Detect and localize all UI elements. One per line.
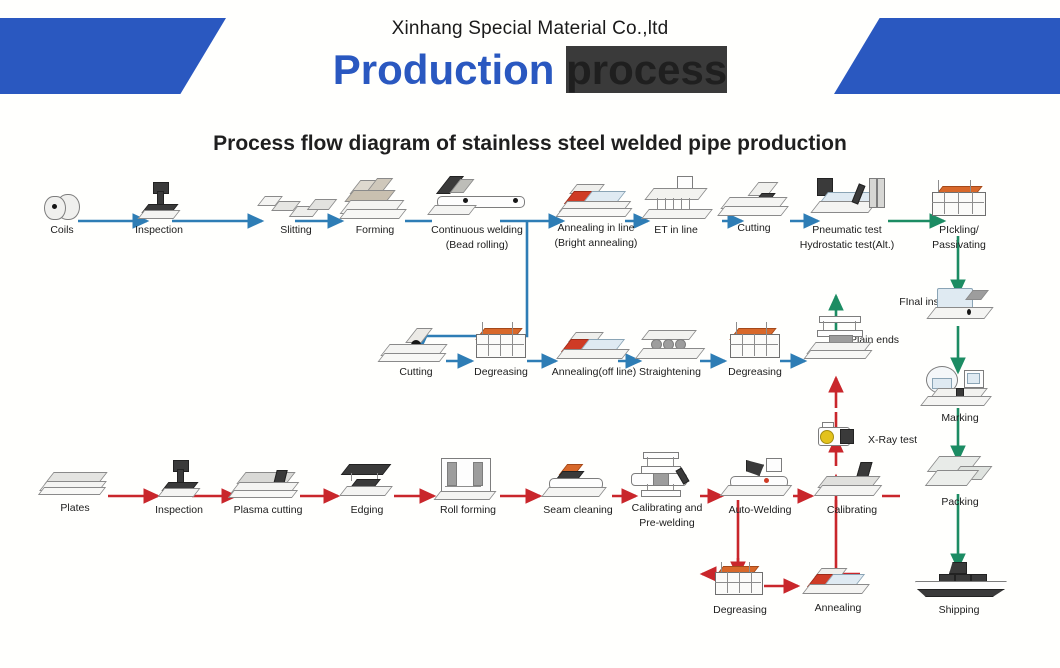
node-label: ET in line bbox=[638, 224, 714, 237]
node-label: Marking bbox=[918, 412, 1002, 425]
annealing-offline-icon bbox=[554, 330, 634, 364]
page-header: Xinhang Special Material Co.,ltd Product… bbox=[0, 0, 1060, 112]
pneumatic-test-icon bbox=[801, 176, 893, 222]
node-forming[interactable]: Forming bbox=[340, 176, 410, 237]
node-shipping[interactable]: Shipping bbox=[900, 562, 1018, 617]
node-annealing-in-line[interactable]: Annealing in line (Bright annealing) bbox=[548, 182, 644, 249]
node-label: Slitting bbox=[258, 224, 334, 237]
auto-welding-icon bbox=[720, 458, 800, 502]
node-label: Annealing in line bbox=[548, 222, 644, 235]
node-inspection[interactable]: Inspection bbox=[122, 182, 196, 237]
marking-machine-icon bbox=[920, 366, 1000, 410]
packing-bundle-icon bbox=[925, 454, 995, 494]
page-title: Production process bbox=[0, 46, 1060, 94]
page-title-accent: Production bbox=[333, 46, 555, 93]
node-label: Degreasing bbox=[706, 604, 774, 617]
node-plain-ends[interactable]: Plain ends bbox=[804, 316, 876, 347]
roll-forming-icon bbox=[433, 458, 503, 502]
node-label: Calibrating bbox=[812, 504, 892, 517]
node-label: Edging bbox=[334, 504, 400, 517]
degreasing-basket-icon bbox=[709, 562, 771, 602]
node-label: Annealing bbox=[800, 602, 876, 615]
node-label-2: Hydrostatic test(Alt.) bbox=[798, 239, 896, 252]
node-packing[interactable]: Packing bbox=[922, 454, 998, 509]
ship-icon bbox=[909, 562, 1009, 602]
node-final-inspection[interactable]: FInal inspection bbox=[920, 288, 1000, 309]
node-label: Plates bbox=[36, 502, 114, 515]
node-pneumatic-test[interactable]: Pneumatic test Hydrostatic test(Alt.) bbox=[798, 176, 896, 251]
node-label-2: Pre-welding bbox=[620, 517, 714, 530]
company-name: Xinhang Special Material Co.,ltd bbox=[0, 18, 1060, 40]
node-label: Degreasing bbox=[464, 366, 538, 379]
node-coils[interactable]: Coils bbox=[30, 190, 94, 237]
page-title-rest: process bbox=[566, 46, 727, 93]
node-et-in-line[interactable]: ET in line bbox=[638, 176, 714, 237]
inspection-microscope-icon bbox=[137, 182, 181, 222]
straightening-rolls-icon bbox=[633, 328, 707, 364]
node-degreasing-3[interactable]: Degreasing bbox=[706, 562, 774, 617]
plates-icon bbox=[39, 470, 111, 500]
plasma-cutting-icon bbox=[231, 470, 305, 502]
degreasing-basket-icon bbox=[468, 322, 534, 364]
node-seam-cleaning[interactable]: Seam cleaning bbox=[538, 464, 618, 517]
node-annealing-off-line[interactable]: Annealing(off line) bbox=[546, 330, 642, 379]
node-cutting-inline[interactable]: Cutting bbox=[718, 182, 790, 235]
x-ray-camera-icon bbox=[816, 422, 856, 448]
node-label: Auto-Welding bbox=[718, 504, 802, 517]
final-inspection-icon bbox=[925, 288, 995, 324]
node-label: Packing bbox=[922, 496, 998, 509]
node-label: Seam cleaning bbox=[538, 504, 618, 517]
node-plates[interactable]: Plates bbox=[36, 470, 114, 515]
process-flow-diagram: Coils Inspection Slitting Forming Contin… bbox=[0, 176, 1060, 668]
node-x-ray-test[interactable]: X-Ray test bbox=[806, 422, 866, 447]
calibrating-pre-welding-icon bbox=[625, 452, 709, 500]
node-label: Calibrating and bbox=[620, 502, 714, 515]
diagram-subtitle: Process flow diagram of stainless steel … bbox=[0, 132, 1060, 156]
calibrating-icon bbox=[814, 462, 890, 502]
node-label: Annealing(off line) bbox=[546, 366, 642, 379]
node-label: Plasma cutting bbox=[228, 504, 308, 517]
annealing-furnace-icon bbox=[557, 182, 635, 220]
node-marking[interactable]: Marking bbox=[918, 366, 1002, 425]
node-calibrating[interactable]: Calibrating bbox=[812, 462, 892, 517]
node-cutting-offline[interactable]: Cutting bbox=[380, 328, 452, 379]
inspection-microscope-icon bbox=[157, 460, 201, 502]
node-label: Continuous welding bbox=[418, 224, 536, 237]
node-slitting[interactable]: Slitting bbox=[258, 188, 334, 237]
node-degreasing-1[interactable]: Degreasing bbox=[464, 322, 538, 379]
et-tester-icon bbox=[639, 176, 713, 222]
plain-ends-machine-icon bbox=[805, 316, 875, 362]
node-label: Shipping bbox=[900, 604, 1018, 617]
node-label: Pneumatic test bbox=[798, 224, 896, 237]
annealing-furnace-icon bbox=[802, 568, 874, 600]
cutting-saw-icon bbox=[381, 328, 451, 364]
node-continuous-welding[interactable]: Continuous welding (Bead rolling) bbox=[418, 176, 536, 251]
edging-press-icon bbox=[337, 464, 397, 502]
node-label: Roll forming bbox=[430, 504, 506, 517]
cutting-machine-icon bbox=[719, 182, 789, 220]
node-label-2: Passivating bbox=[920, 239, 998, 252]
node-label: Straightening bbox=[630, 366, 710, 379]
node-degreasing-2[interactable]: Degreasing bbox=[718, 322, 792, 379]
node-straightening[interactable]: Straightening bbox=[630, 328, 710, 379]
node-label: Degreasing bbox=[718, 366, 792, 379]
node-label: Cutting bbox=[380, 366, 452, 379]
node-roll-forming[interactable]: Roll forming bbox=[430, 458, 506, 517]
node-plasma-cutting[interactable]: Plasma cutting bbox=[228, 470, 308, 517]
node-label: Forming bbox=[340, 224, 410, 237]
forming-mill-icon bbox=[343, 176, 407, 222]
node-annealing-plate[interactable]: Annealing bbox=[800, 568, 876, 615]
node-label: Cutting bbox=[718, 222, 790, 235]
node-pickling[interactable]: PIckling/ Passivating bbox=[920, 180, 998, 251]
node-label: Coils bbox=[30, 224, 94, 237]
coils-icon bbox=[42, 190, 82, 222]
node-edging[interactable]: Edging bbox=[334, 464, 400, 517]
node-calibrating-pre-welding[interactable]: Calibrating and Pre-welding bbox=[620, 452, 714, 529]
node-label-2: (Bright annealing) bbox=[548, 237, 644, 250]
node-inspection-plate[interactable]: Inspection bbox=[142, 460, 216, 517]
pickling-basket-icon bbox=[924, 180, 994, 222]
node-label-2: (Bead rolling) bbox=[418, 239, 536, 252]
node-auto-welding[interactable]: Auto-Welding bbox=[718, 458, 802, 517]
seam-cleaning-icon bbox=[541, 464, 615, 502]
continuous-welding-icon bbox=[427, 176, 527, 222]
node-label: Inspection bbox=[122, 224, 196, 237]
node-label: PIckling/ bbox=[920, 224, 998, 237]
node-label: Inspection bbox=[142, 504, 216, 517]
slitting-strip-icon bbox=[261, 188, 331, 222]
degreasing-basket-icon bbox=[722, 322, 788, 364]
